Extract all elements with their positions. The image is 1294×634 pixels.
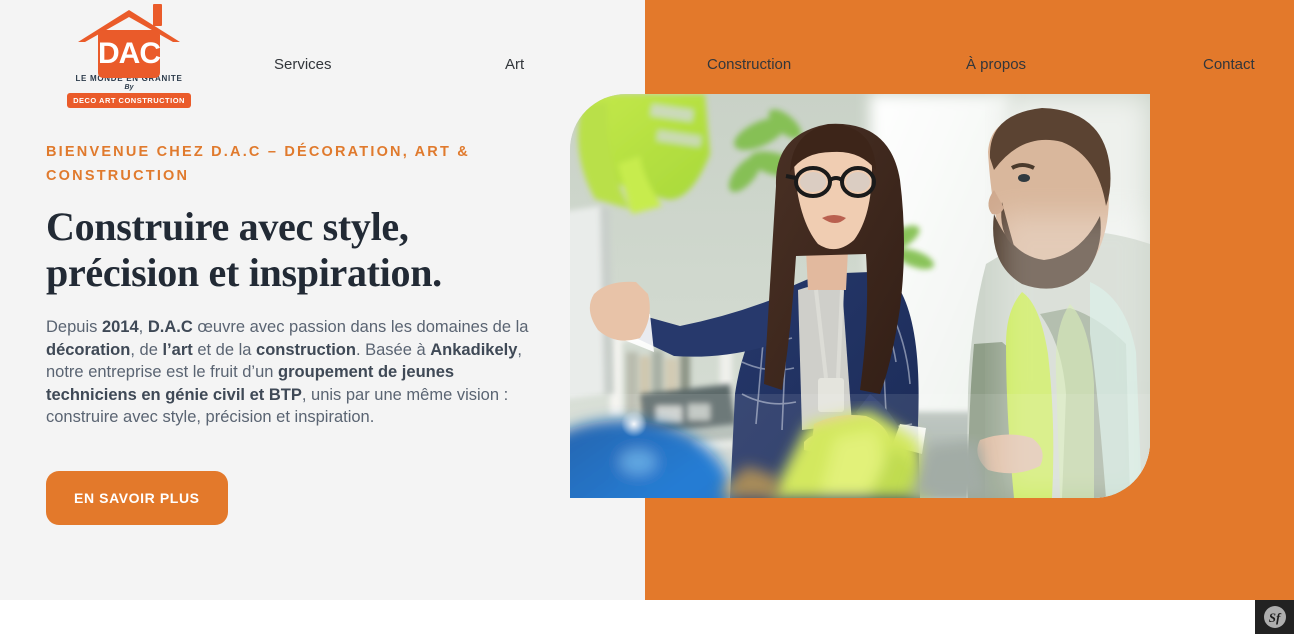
nav-item-construction[interactable]: Construction [707, 55, 791, 75]
hero-paragraph: Depuis 2014, D.A.C œuvre avec passion da… [46, 316, 538, 429]
para-strong-decoration: décoration [46, 341, 130, 359]
hero-copy-column: BIENVENUE CHEZ D.A.C – DÉCORATION, ART &… [46, 140, 546, 525]
para-text: . Basée à [356, 341, 430, 359]
para-text: , de [130, 341, 162, 359]
nav-item-services[interactable]: Services [274, 55, 332, 75]
hero-eyebrow: BIENVENUE CHEZ D.A.C – DÉCORATION, ART &… [46, 140, 541, 188]
para-strong-art: l’art [162, 341, 192, 359]
para-strong-construction: construction [256, 341, 356, 359]
main-navigation: Services Art Construction À propos Conta… [0, 0, 1294, 112]
hero-photo-illustration [570, 94, 1150, 498]
learn-more-button[interactable]: EN SAVOIR PLUS [46, 471, 228, 525]
nav-item-a-propos[interactable]: À propos [966, 55, 1026, 75]
para-text: , [139, 318, 148, 336]
hero-image [570, 94, 1150, 498]
para-text: œuvre avec passion dans les domaines de … [193, 318, 529, 336]
para-strong-brand: D.A.C [148, 318, 193, 336]
para-strong-location: Ankadikely [430, 341, 517, 359]
symfony-profiler-icon: Sf [1264, 606, 1286, 628]
symfony-profiler-badge[interactable]: Sf [1255, 600, 1294, 634]
headline-line-2: précision et inspiration. [46, 250, 442, 295]
para-strong-year: 2014 [102, 318, 139, 336]
nav-item-contact[interactable]: Contact [1203, 55, 1255, 75]
para-text: Depuis [46, 318, 102, 336]
page-root: DAC LE MONDE EN GRANITE By DECO ART CONS… [0, 0, 1294, 634]
site-header: DAC LE MONDE EN GRANITE By DECO ART CONS… [0, 0, 1294, 112]
nav-item-art[interactable]: Art [505, 55, 524, 75]
para-text: et de la [193, 341, 256, 359]
headline-line-1: Construire avec style, [46, 204, 409, 249]
page-title: Construire avec style, précision et insp… [46, 204, 546, 296]
hero-section: DAC LE MONDE EN GRANITE By DECO ART CONS… [0, 0, 1294, 600]
